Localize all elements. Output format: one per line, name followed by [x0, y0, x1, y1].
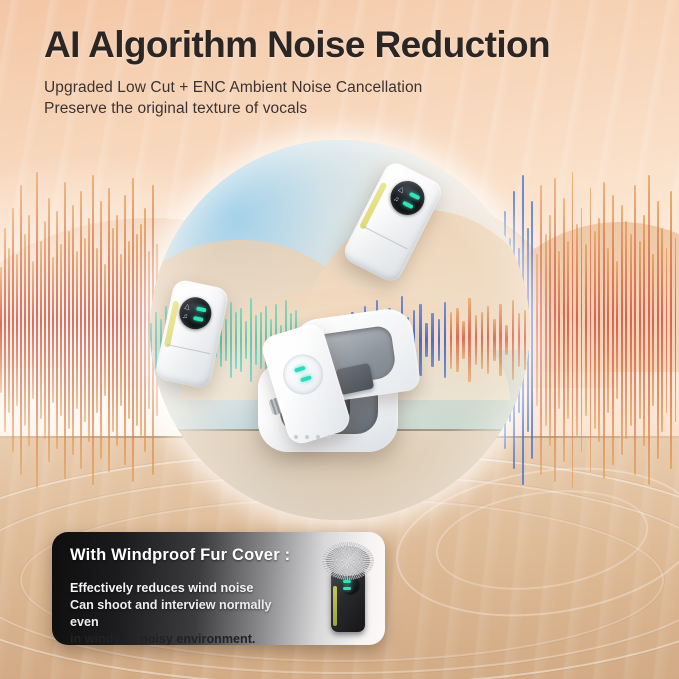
- waveform-bar: [540, 185, 542, 475]
- waveform-bar: [104, 264, 106, 396]
- case-battery-leds: [294, 434, 352, 440]
- waveform-bar: [36, 172, 38, 489]
- waveform-bar: [456, 308, 459, 373]
- waveform-bar: [675, 238, 677, 423]
- waveform-bar: [630, 234, 632, 425]
- waveform-bar: [88, 218, 90, 442]
- waveform-bar: [499, 304, 502, 376]
- mic-icon: ♫: [182, 313, 189, 321]
- waveform-bar: [92, 175, 94, 485]
- waveform-bar: [634, 185, 636, 475]
- waveform-bar: [549, 215, 551, 446]
- feature-caption-box: With Windproof Fur Cover : Effectively r…: [52, 532, 385, 645]
- waveform-bar: [468, 298, 471, 382]
- waveform-bar: [616, 261, 618, 400]
- waveform-bar: [4, 228, 6, 433]
- waveform-bar: [531, 201, 533, 458]
- waveform-bar: [64, 182, 66, 479]
- signal-icon: △: [184, 303, 191, 311]
- waveform-bar: [563, 198, 565, 462]
- waveform-bar: [60, 244, 62, 416]
- waveform-bar: [124, 195, 126, 466]
- waveform-bar: [524, 310, 527, 371]
- fur-mic-strip: [333, 586, 337, 626]
- mic-oled-display: △ ♫: [385, 175, 431, 221]
- waveform-bar: [48, 198, 50, 462]
- waveform-bar: [40, 241, 42, 419]
- waveform-bar: [8, 248, 10, 413]
- subtitle-line-2: Preserve the original texture of vocals: [44, 100, 644, 118]
- waveform-bar: [576, 224, 578, 435]
- waveform-bar: [120, 254, 122, 406]
- waveform-bar: [505, 325, 508, 355]
- waveform-bar: [590, 188, 592, 472]
- waveform-bar: [493, 319, 496, 361]
- waveform-bar: [96, 248, 98, 413]
- waveform-bar: [140, 224, 142, 435]
- caption-line-2: Can shoot and interview normally even: [70, 597, 300, 631]
- waveform-bar: [431, 313, 434, 366]
- caption-line-1: Effectively reduces wind noise: [70, 580, 300, 597]
- waveform-bar: [581, 208, 583, 452]
- waveform-bar: [652, 254, 654, 406]
- waveform-bar: [648, 175, 650, 485]
- waveform-bar: [24, 234, 26, 425]
- waveform-bar: [28, 215, 30, 446]
- waveform-bar: [72, 205, 74, 456]
- waveform-bar: [607, 248, 609, 413]
- waveform-bar: [554, 178, 556, 482]
- waveform-bar: [670, 191, 672, 468]
- waveform-bar: [438, 319, 441, 361]
- waveform-bar: [512, 300, 515, 380]
- product-marketing-image: △ ♫ △ ♫: [0, 0, 679, 679]
- waveform-bar: [144, 208, 146, 452]
- circular-product-spotlight: △ ♫ △ ♫: [150, 140, 530, 520]
- waveform-bar: [572, 172, 574, 489]
- mic-face-display: [278, 349, 328, 399]
- waveform-bar: [116, 215, 118, 446]
- waveform-bar: [80, 191, 82, 468]
- waveform-bar: [112, 228, 114, 433]
- mic-oled-display: △ ♫: [176, 294, 214, 332]
- waveform-bar: [657, 201, 659, 458]
- caption-line-3: in windy or noisy environment.: [70, 631, 300, 645]
- waveform-bar: [16, 254, 18, 406]
- waveform-bar: [598, 218, 600, 442]
- waveform-bar: [68, 231, 70, 429]
- waveform-bar: [444, 302, 447, 378]
- waveform-bar: [625, 221, 627, 439]
- waveform-bar: [518, 313, 521, 366]
- waveform-bar: [230, 302, 232, 378]
- waveform-bar: [661, 228, 663, 433]
- waveform-bar: [235, 312, 237, 369]
- waveform-bar: [621, 205, 623, 456]
- waveform-bar: [487, 306, 490, 374]
- waveform-bar: [558, 251, 560, 409]
- waveform-bar: [545, 234, 547, 425]
- black-microphone-with-fur-windscreen: [327, 546, 369, 632]
- waveform-bar: [84, 238, 86, 423]
- subtitle-line-1: Upgraded Low Cut + ENC Ambient Noise Can…: [44, 79, 644, 97]
- waveform-bar: [612, 195, 614, 466]
- waveform-bar: [136, 234, 138, 425]
- waveform-bar: [225, 319, 227, 361]
- waveform-bar: [0, 267, 2, 392]
- waveform-bar: [56, 211, 58, 449]
- caption-body: Effectively reduces wind noise Can shoot…: [70, 580, 300, 645]
- waveform-bar: [128, 241, 130, 419]
- waveform-bar: [475, 315, 478, 364]
- waveform-bar: [108, 188, 110, 472]
- page-title: AI Algorithm Noise Reduction: [44, 24, 644, 66]
- waveform-bar: [32, 261, 34, 400]
- waveform-bar: [450, 312, 453, 369]
- waveform-bar: [132, 178, 134, 482]
- waveform-bar: [643, 215, 645, 446]
- waveform-bar: [536, 254, 538, 406]
- waveform-bar: [585, 244, 587, 416]
- waveform-bar: [150, 323, 152, 357]
- waveform-bar: [567, 241, 569, 419]
- waveform-bar: [666, 248, 668, 413]
- waveform-bar: [462, 321, 465, 359]
- waveform-bar: [594, 231, 596, 429]
- waveform-bar: [52, 257, 54, 402]
- caption-title: With Windproof Fur Cover :: [70, 546, 290, 565]
- waveform-bar: [240, 308, 242, 373]
- fur-windscreen-icon: [326, 546, 370, 576]
- waveform-bar: [76, 251, 78, 409]
- charging-case: [246, 310, 426, 458]
- waveform-bar: [100, 201, 102, 458]
- waveform-bar: [20, 185, 22, 475]
- waveform-bar: [603, 182, 605, 479]
- waveform-bar: [12, 208, 14, 452]
- waveform-bar: [481, 312, 484, 369]
- waveform-bar: [44, 221, 46, 439]
- waveform-bar: [639, 241, 641, 419]
